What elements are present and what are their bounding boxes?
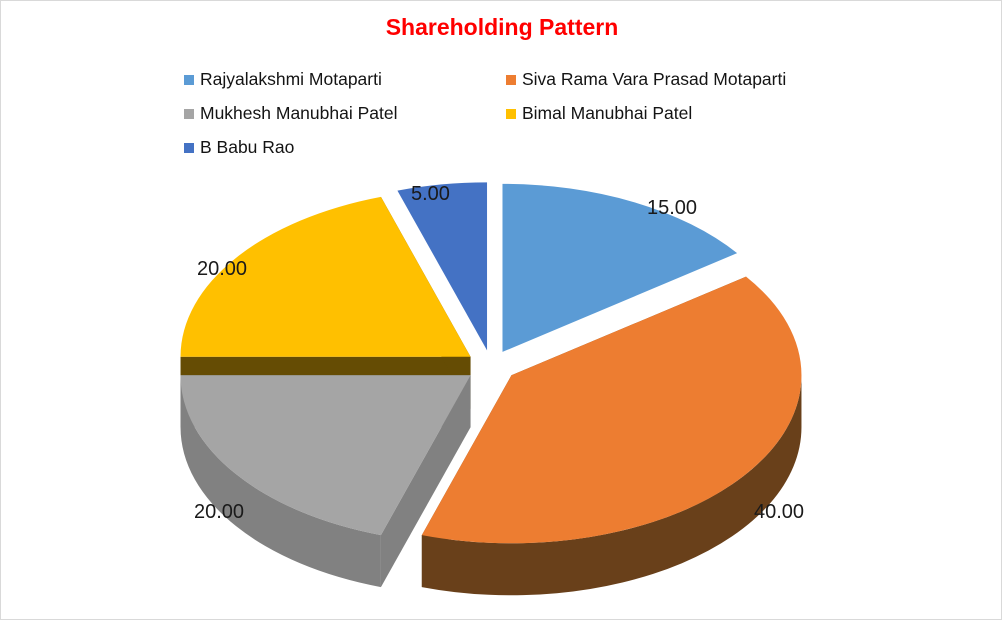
pie-chart-plot-area: 15.00 40.00 20.00 20.00 5.00 xyxy=(1,171,1002,601)
legend-item-label: Mukhesh Manubhai Patel xyxy=(200,105,397,123)
pie-chart-svg xyxy=(1,171,1002,601)
data-label-slice-1: 40.00 xyxy=(754,501,804,524)
legend-row: B Babu Rao xyxy=(184,131,884,165)
legend-swatch-icon xyxy=(184,109,194,119)
data-label-slice-2: 20.00 xyxy=(194,501,244,524)
legend-item-siva-rama-vara-prasad-motaparti[interactable]: Siva Rama Vara Prasad Motaparti xyxy=(506,71,786,89)
legend-item-label: Rajyalakshmi Motaparti xyxy=(200,71,382,89)
legend-swatch-icon xyxy=(506,75,516,85)
legend-item-b-babu-rao[interactable]: B Babu Rao xyxy=(184,139,506,157)
legend-row: Mukhesh Manubhai Patel Bimal Manubhai Pa… xyxy=(184,97,884,131)
data-label-slice-3: 20.00 xyxy=(197,258,247,281)
data-label-slice-4: 5.00 xyxy=(411,183,450,206)
legend-row: Rajyalakshmi Motaparti Siva Rama Vara Pr… xyxy=(184,63,884,97)
legend-swatch-icon xyxy=(506,109,516,119)
legend-item-label: Siva Rama Vara Prasad Motaparti xyxy=(522,71,786,89)
legend-item-label: Bimal Manubhai Patel xyxy=(522,105,692,123)
chart-container: Shareholding Pattern Rajyalakshmi Motapa… xyxy=(0,0,1002,620)
legend-swatch-icon xyxy=(184,143,194,153)
legend-item-rajyalakshmi-motaparti[interactable]: Rajyalakshmi Motaparti xyxy=(184,71,506,89)
legend-item-label: B Babu Rao xyxy=(200,139,294,157)
legend-swatch-icon xyxy=(184,75,194,85)
data-label-slice-0: 15.00 xyxy=(647,197,697,220)
chart-title: Shareholding Pattern xyxy=(1,14,1002,41)
legend-item-mukhesh-manubhai-patel[interactable]: Mukhesh Manubhai Patel xyxy=(184,105,506,123)
legend-item-bimal-manubhai-patel[interactable]: Bimal Manubhai Patel xyxy=(506,105,692,123)
chart-legend: Rajyalakshmi Motaparti Siva Rama Vara Pr… xyxy=(184,63,884,165)
